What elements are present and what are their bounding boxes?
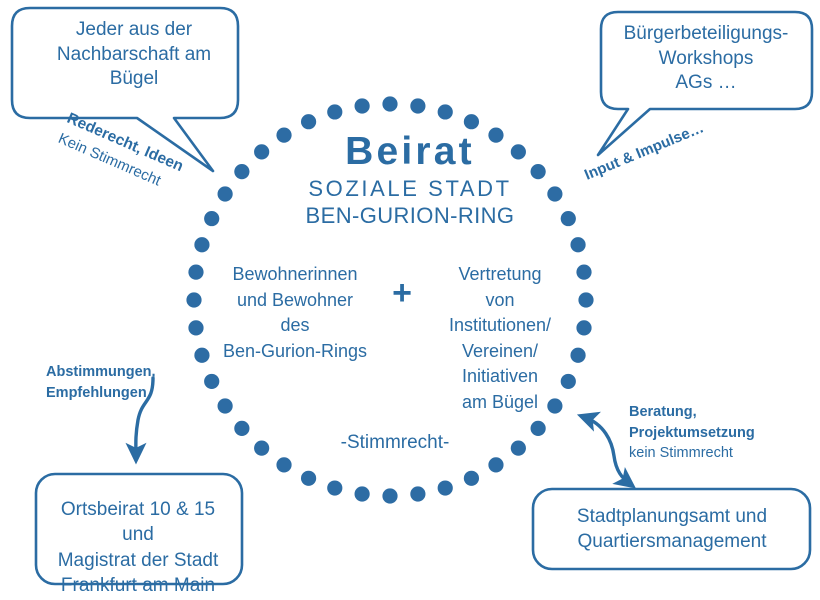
box-bottom-left-text: Ortsbeirat 10 & 15undMagistrat der Stadt…	[40, 497, 236, 598]
box-bottom-right-text: Stadtplanungsamt undQuartiersmanagement	[540, 504, 804, 555]
bubble-top-left-text: Jeder aus derNachbarschaft amBügel	[34, 18, 234, 92]
ring-dot	[531, 421, 546, 436]
ring-dot	[194, 237, 209, 252]
ring-dot	[382, 488, 397, 503]
ring-dot	[438, 480, 453, 495]
ring-dot	[570, 237, 585, 252]
ring-dot	[438, 104, 453, 119]
ring-dot	[327, 480, 342, 495]
ring-dot	[327, 104, 342, 119]
ring-dot	[464, 471, 479, 486]
diagram-canvas: Jeder aus derNachbarschaft amBügel Reder…	[0, 0, 820, 600]
ring-dot	[218, 398, 233, 413]
voting-right-note: -Stimmrecht-	[280, 432, 510, 454]
ring-dot	[410, 486, 425, 501]
ring-dot	[382, 96, 397, 111]
ring-dot	[301, 471, 316, 486]
annotation-beratung-line1: Beratung,	[629, 402, 799, 423]
ring-dot	[410, 98, 425, 113]
ring-dot	[186, 292, 201, 307]
bubble-top-right-text: Bürgerbeteiligungs-WorkshopsAGs …	[608, 22, 804, 96]
ring-dot	[511, 441, 526, 456]
ring-dot	[355, 486, 370, 501]
ring-dot	[234, 421, 249, 436]
center-column-residents: Bewohnerinnenund BewohnerdesBen-Gurion-R…	[205, 262, 385, 364]
subtitle-ben-gurion-ring: BEN-GURION-RING	[0, 203, 820, 229]
annotation-abstimmungen-line1: Abstimmungen,	[46, 364, 156, 380]
ring-dot	[488, 457, 503, 472]
arrow-right-bidirectional	[584, 417, 630, 484]
ring-dot	[188, 320, 203, 335]
page-title: Beirat	[0, 129, 820, 175]
ring-dot	[301, 114, 316, 129]
annotation-beratung-line2: Projektumsetzung	[629, 423, 799, 444]
ring-dot	[578, 292, 593, 307]
annotation-beratung: Beratung, Projektumsetzung kein Stimmrec…	[629, 402, 799, 464]
subtitle-soziale-stadt: SOZIALE STADT	[0, 176, 820, 202]
center-column-institutions: VertretungvonInstitutionen/Vereinen/Init…	[420, 262, 580, 415]
plus-icon: +	[385, 276, 419, 310]
annotation-abstimmungen: Abstimmungen, Empfehlungen	[46, 362, 196, 404]
ring-dot	[464, 114, 479, 129]
ring-dot	[188, 265, 203, 280]
ring-dot	[355, 98, 370, 113]
annotation-beratung-line3: kein Stimmrecht	[629, 443, 799, 464]
ring-dot	[204, 374, 219, 389]
ring-dot	[254, 441, 269, 456]
annotation-abstimmungen-line2: Empfehlungen	[46, 385, 147, 401]
ring-dot	[276, 457, 291, 472]
